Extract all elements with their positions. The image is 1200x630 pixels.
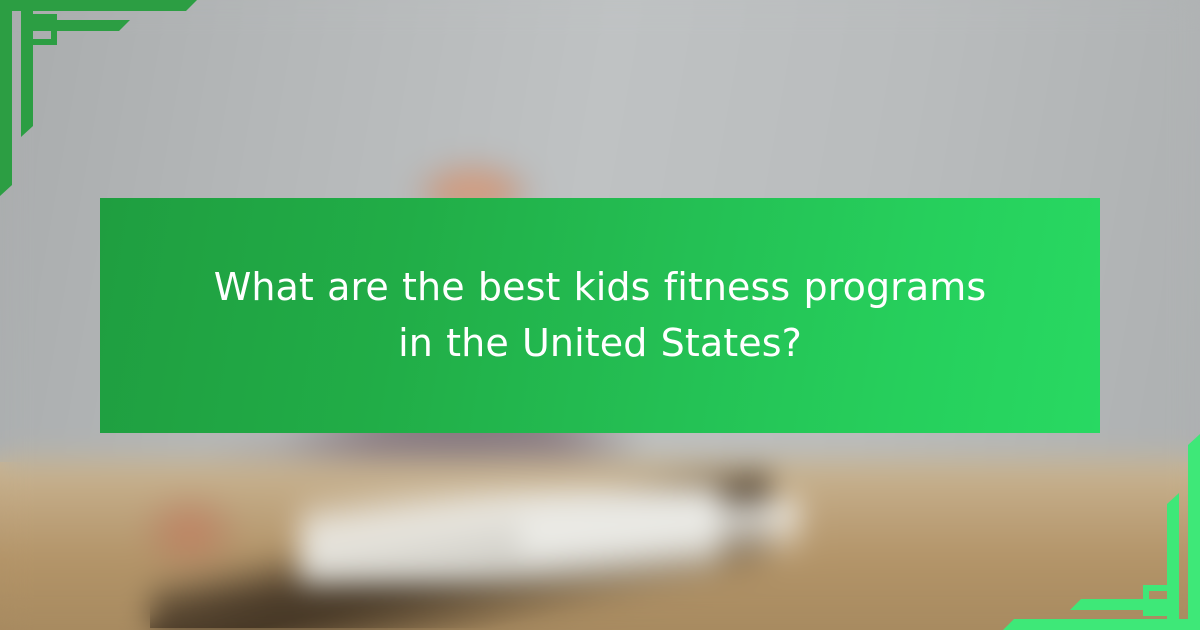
question-card: What are the best kids fitness programs … <box>0 0 1200 630</box>
question-banner: What are the best kids fitness programs … <box>100 198 1100 433</box>
question-title: What are the best kids fitness programs … <box>200 260 1000 372</box>
